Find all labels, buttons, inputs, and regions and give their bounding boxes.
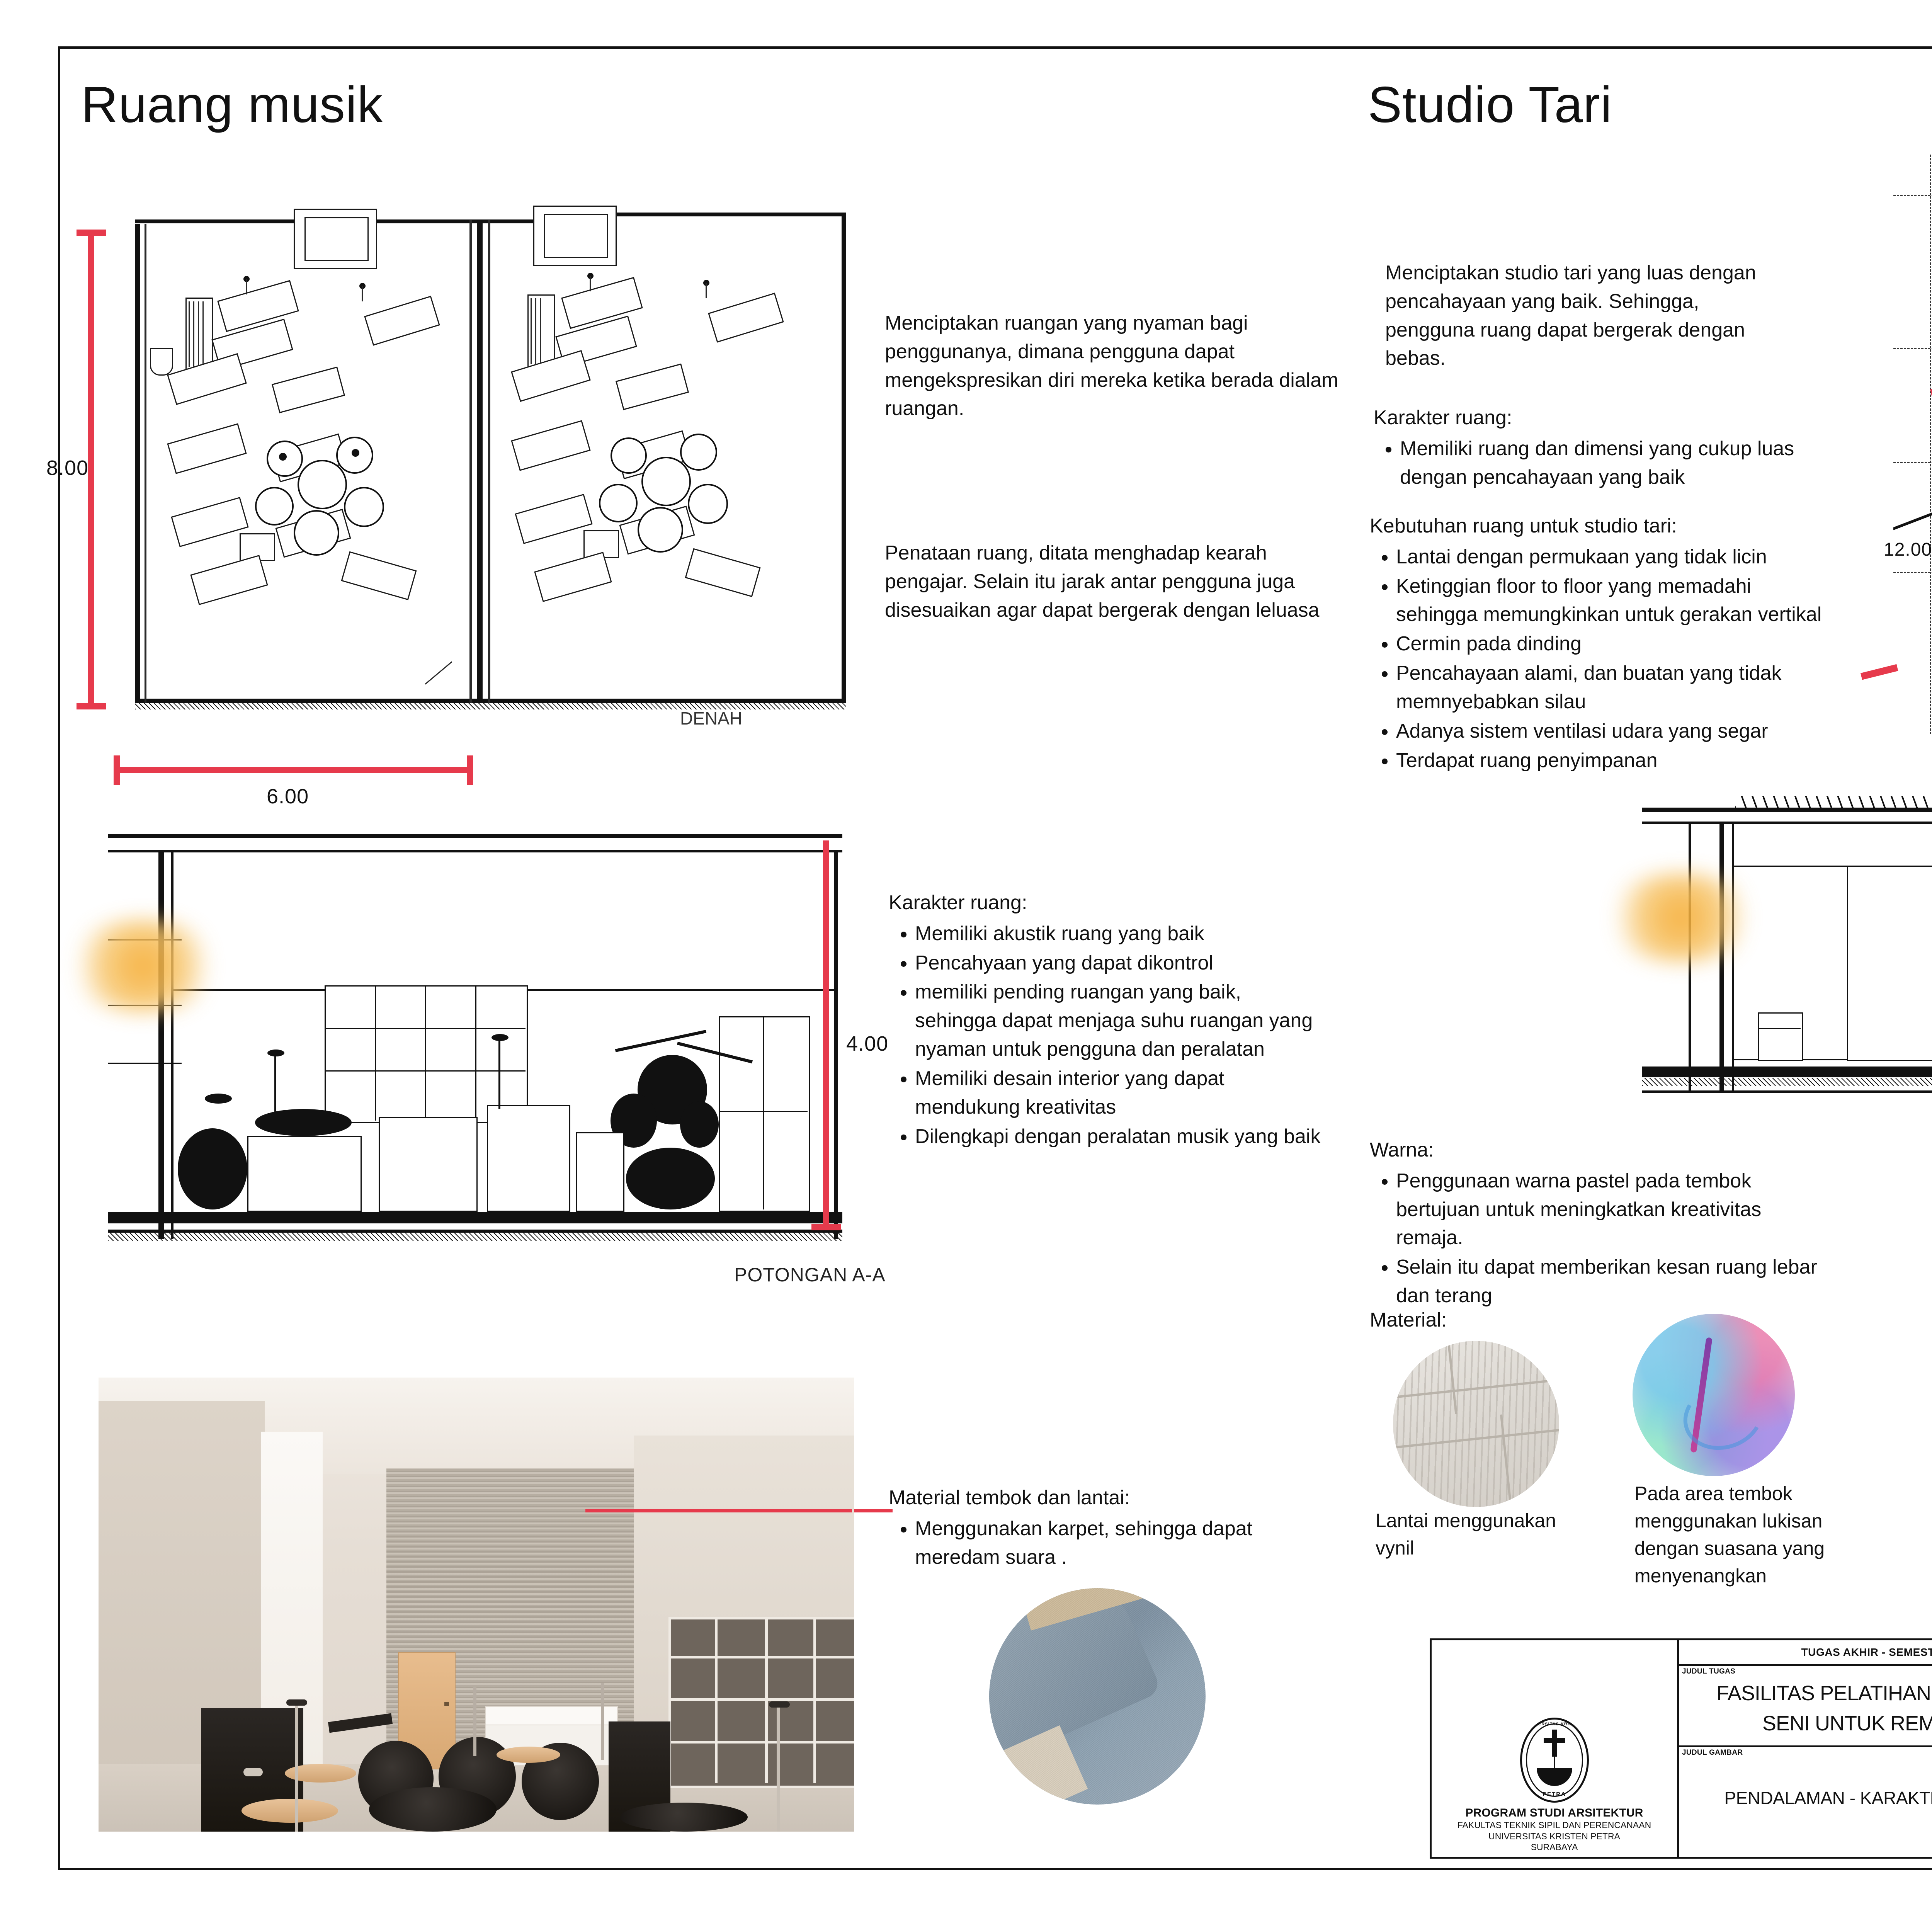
dance-site-plan: - --- Dance Studio Dance Studio bbox=[1893, 155, 1932, 734]
title-block-header: TUGAS AKHIR - SEMESTER GENAP 2024/2025 bbox=[1679, 1640, 1932, 1666]
fakultas-label: FAKULTAS TEKNIK SIPIL DAN PERENCANAAN bbox=[1458, 1820, 1651, 1831]
list-item: Pencahayaan alami, dan buatan yang tidak… bbox=[1396, 659, 1830, 716]
list-item: Memiliki ruang dan dimensi yang cukup lu… bbox=[1400, 435, 1810, 492]
list-item: Memiliki akustik ruang yang baik bbox=[915, 920, 1325, 948]
dance-warna-block: Warna: Penggunaan warna pastel pada temb… bbox=[1370, 1136, 1833, 1311]
dim-value-height: 8.00 bbox=[46, 456, 88, 480]
list-item: Terdapat ruang penyimpanan bbox=[1396, 747, 1830, 775]
list-item: Cermin pada dinding bbox=[1396, 630, 1830, 658]
music-room-render bbox=[99, 1378, 854, 1832]
dim-line-8 bbox=[88, 232, 94, 707]
prodi-label: PROGRAM STUDI ARSITEKTUR bbox=[1465, 1806, 1643, 1820]
dance-material-caption-left: Lantai menggunakan vynil bbox=[1376, 1507, 1557, 1564]
dim-value-section: 4.00 bbox=[846, 1032, 888, 1056]
list-item: Ketinggian floor to floor yang memadahi … bbox=[1396, 572, 1830, 629]
judul-gambar-cell: JUDUL GAMBAR PENDALAMAN - KARAKTER RUANG bbox=[1679, 1747, 1932, 1859]
dance-warna-list: Penggunaan warna pastel pada tembok bert… bbox=[1370, 1167, 1833, 1310]
music-material-list: Menggunakan karpet, sehingga dapat mered… bbox=[889, 1515, 1318, 1572]
light-glow-right bbox=[1600, 873, 1762, 962]
music-intro-paragraph: Menciptakan ruangan yang nyaman bagi pen… bbox=[885, 309, 1341, 423]
dance-warna-heading: Warna: bbox=[1370, 1136, 1833, 1165]
list-item: Memiliki desain interior yang dapat mend… bbox=[915, 1065, 1325, 1122]
dance-kebutuhan-heading: Kebutuhan ruang untuk studio tari: bbox=[1370, 512, 1830, 541]
vinyl-material-swatch bbox=[1393, 1341, 1559, 1507]
title-block-middle-column: TUGAS AKHIR - SEMESTER GENAP 2024/2025 J… bbox=[1679, 1640, 1932, 1857]
title-block-logo-column: UNIVERSITAS KRISTEN PETRA PROGRAM STUDI … bbox=[1432, 1640, 1679, 1857]
dim-line-6 bbox=[116, 767, 471, 773]
judul-gambar-caption: JUDUL GAMBAR bbox=[1682, 1749, 1743, 1757]
dim-value-width: 6.00 bbox=[267, 784, 309, 808]
music-layout-paragraph: Penataan ruang, ditata menghadap kearah … bbox=[885, 539, 1329, 624]
dance-kebutuhan-block: Kebutuhan ruang untuk studio tari: Lanta… bbox=[1370, 512, 1830, 776]
list-item: Dilengkapi dengan peralatan musik yang b… bbox=[915, 1123, 1325, 1151]
list-item: Menggunakan karpet, sehingga dapat mered… bbox=[915, 1515, 1318, 1572]
music-karakter-list: Memiliki akustik ruang yang baik Pencahy… bbox=[889, 920, 1325, 1151]
carpet-material-swatch bbox=[989, 1588, 1206, 1805]
dance-material-caption-right: Pada area tembok menggunakan lukisan den… bbox=[1634, 1480, 1835, 1592]
music-material-block: Material tembok dan lantai: Menggunakan … bbox=[889, 1484, 1318, 1572]
music-material-heading: Material tembok dan lantai: bbox=[889, 1484, 1318, 1512]
music-intro-text: Menciptakan ruangan yang nyaman bagi pen… bbox=[885, 309, 1341, 425]
dance-karakter-heading: Karakter ruang: bbox=[1374, 404, 1810, 432]
judul-gambar-value: PENDALAMAN - KARAKTER RUANG bbox=[1679, 1788, 1932, 1808]
page-title-studio-tari: Studio Tari bbox=[1368, 75, 1612, 134]
judul-tugas-line1: FASILITAS PELATIHAN DAN PERTUNJUKAN bbox=[1679, 1681, 1932, 1705]
wall-painting-material-swatch bbox=[1633, 1314, 1795, 1476]
leader-line-render bbox=[585, 1509, 852, 1512]
judul-tugas-line2: SENI UNTUK REMAJA DI MALANG bbox=[1679, 1711, 1932, 1735]
list-item: Selain itu dapat memberikan kesan ruang … bbox=[1396, 1253, 1833, 1310]
dance-material-heading-block: Material: bbox=[1370, 1306, 1602, 1337]
list-item: Lantai dengan permukaan yang tidak licin bbox=[1396, 543, 1830, 572]
presentation-board: Ruang musik Studio Tari bbox=[0, 0, 1932, 1917]
light-glow-left bbox=[62, 920, 224, 1012]
dim-value-12: 12.00 bbox=[1884, 539, 1932, 560]
section-label: POTONGAN A-A bbox=[734, 1264, 886, 1286]
list-item: Penggunaan warna pastel pada tembok bert… bbox=[1396, 1167, 1833, 1252]
music-floor-plan: DENAH bbox=[128, 193, 862, 726]
dance-material-heading: Material: bbox=[1370, 1306, 1602, 1335]
music-section-drawing bbox=[108, 823, 854, 1248]
list-item: Pencahyaan yang dapat dikontrol bbox=[915, 949, 1325, 978]
list-item: memiliki pending ruangan yang baik, sehi… bbox=[915, 978, 1325, 1063]
dance-karakter-list: Memiliki ruang dan dimensi yang cukup lu… bbox=[1374, 435, 1810, 492]
dance-intro-text: Menciptakan studio tari yang luas dengan… bbox=[1385, 259, 1779, 375]
music-layout-text: Penataan ruang, ditata menghadap kearah … bbox=[885, 539, 1329, 627]
dance-kebutuhan-list: Lantai dengan permukaan yang tidak licin… bbox=[1370, 543, 1830, 775]
list-item: Adanya sistem ventilasi udara yang segar bbox=[1396, 717, 1830, 746]
page-title-ruang-musik: Ruang musik bbox=[81, 75, 383, 134]
dance-intro-paragraph: Menciptakan studio tari yang luas dengan… bbox=[1385, 259, 1779, 373]
judul-tugas-cell: JUDUL TUGAS FASILITAS PELATIHAN DAN PERT… bbox=[1679, 1666, 1932, 1747]
title-block: UNIVERSITAS KRISTEN PETRA PROGRAM STUDI … bbox=[1430, 1638, 1932, 1859]
dim-line-section-4 bbox=[823, 840, 829, 1227]
music-karakter-heading: Karakter ruang: bbox=[889, 889, 1325, 917]
plan-label: DENAH bbox=[680, 708, 742, 726]
dance-karakter-block: Karakter ruang: Memiliki ruang dan dimen… bbox=[1374, 404, 1810, 492]
judul-tugas-caption: JUDUL TUGAS bbox=[1682, 1667, 1735, 1676]
universitas-label: UNIVERSITAS KRISTEN PETRA bbox=[1488, 1831, 1620, 1842]
kota-label: SURABAYA bbox=[1531, 1842, 1578, 1853]
music-karakter-block: Karakter ruang: Memiliki akustik ruang y… bbox=[889, 889, 1325, 1152]
university-logo-icon: UNIVERSITAS KRISTEN PETRA bbox=[1520, 1718, 1589, 1803]
